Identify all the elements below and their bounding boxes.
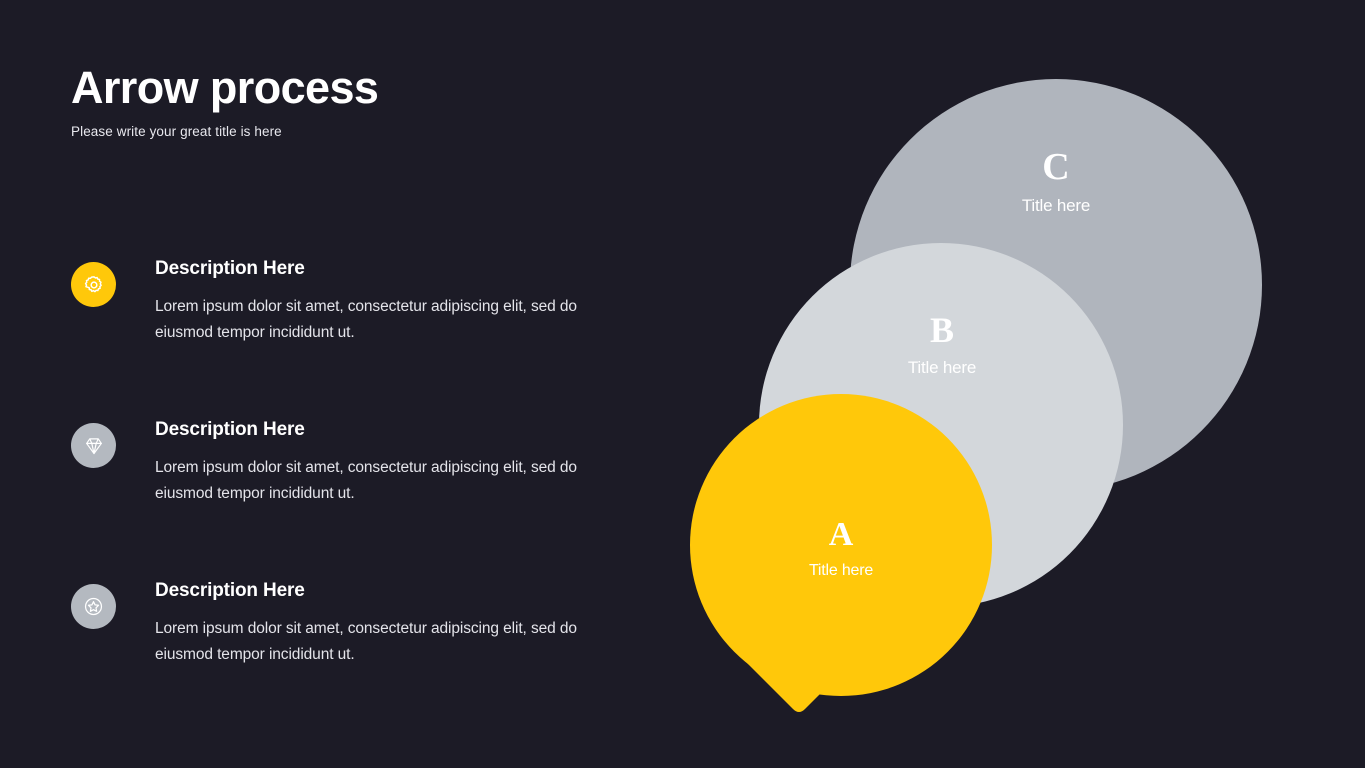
- page-title: Arrow process: [71, 64, 378, 111]
- slide-header: Arrow process Please write your great ti…: [71, 64, 378, 139]
- star-badge-icon: [71, 584, 116, 629]
- list-item[interactable]: Description Here Lorem ipsum dolor sit a…: [71, 258, 661, 386]
- list-item-text: Lorem ipsum dolor sit amet, consectetur …: [155, 455, 625, 508]
- diamond-icon: [71, 423, 116, 468]
- list-item-text: Lorem ipsum dolor sit amet, consectetur …: [155, 616, 625, 669]
- list-item-title: Description Here: [155, 419, 661, 442]
- page-subtitle: Please write your great title is here: [71, 124, 378, 139]
- list-item[interactable]: Description Here Lorem ipsum dolor sit a…: [71, 580, 661, 708]
- list-item-title: Description Here: [155, 580, 661, 603]
- list-item-text: Lorem ipsum dolor sit amet, consectetur …: [155, 294, 625, 347]
- slide-root: Arrow process Please write your great ti…: [0, 0, 1365, 768]
- gear-icon: [71, 262, 116, 307]
- arrow-process-diagram: C Title here B Title here A Title here: [660, 40, 1360, 740]
- description-list: Description Here Lorem ipsum dolor sit a…: [71, 258, 661, 708]
- list-item[interactable]: Description Here Lorem ipsum dolor sit a…: [71, 419, 661, 547]
- list-item-title: Description Here: [155, 258, 661, 281]
- node-a-shape[interactable]: [690, 394, 992, 712]
- list-item-body: Description Here Lorem ipsum dolor sit a…: [155, 580, 661, 669]
- list-item-body: Description Here Lorem ipsum dolor sit a…: [155, 419, 661, 508]
- list-item-body: Description Here Lorem ipsum dolor sit a…: [155, 258, 661, 347]
- diagram-canvas: [660, 40, 1360, 740]
